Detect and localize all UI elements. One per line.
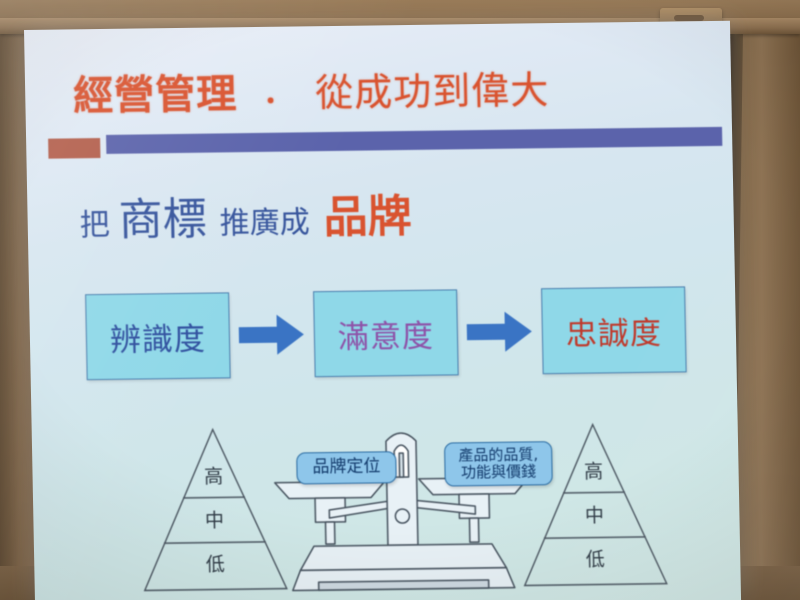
pyramid-level-label: 低 bbox=[520, 544, 671, 573]
callout-label: 品牌定位 bbox=[312, 458, 380, 478]
wall-right bbox=[736, 30, 800, 600]
flow-step-label: 忠誠度 bbox=[565, 307, 662, 353]
arrow-right-icon bbox=[466, 308, 533, 355]
subtitle-prefix: 把 bbox=[79, 200, 110, 244]
callout-product-quality: 產品的品質, 功能與價錢 bbox=[444, 441, 553, 486]
balance-scale-icon: 品牌定位 產品的品質, 功能與價錢 bbox=[265, 411, 539, 600]
pyramid-level-label: 中 bbox=[519, 500, 670, 529]
title-sub-text: 從成功到偉大 bbox=[315, 59, 550, 117]
flow-step-label: 辨識度 bbox=[109, 313, 206, 359]
projector-photo: 經營管理 ． 從成功到偉大 把 商標 推廣成 品牌 辨識度 bbox=[0, 0, 800, 600]
flow-step-label: 滿意度 bbox=[337, 310, 434, 356]
title-separator: ． bbox=[263, 67, 294, 111]
slide-title: 經營管理 ． 從成功到偉大 bbox=[73, 49, 694, 127]
divider-accent-block bbox=[48, 138, 100, 159]
subtitle-emphasis-brand: 品牌 bbox=[323, 180, 412, 245]
flow-step-satisfaction: 滿意度 bbox=[313, 289, 459, 377]
illustration-row: 高 中 低 bbox=[55, 403, 719, 600]
callout-brand-positioning: 品牌定位 bbox=[296, 451, 397, 484]
flow-step-loyalty: 忠誠度 bbox=[541, 286, 687, 374]
flow-step-recognition: 辨識度 bbox=[85, 292, 231, 380]
title-divider bbox=[26, 125, 733, 164]
callout-label-line2: 功能與價錢 bbox=[461, 463, 536, 481]
arrow-right-icon bbox=[238, 311, 305, 358]
divider-bar bbox=[106, 127, 722, 154]
slide-subtitle: 把 商標 推廣成 品牌 bbox=[79, 176, 700, 250]
subtitle-middle: 推廣成 bbox=[219, 197, 310, 242]
subtitle-emphasis-trademark: 商標 bbox=[118, 183, 207, 248]
title-main-text: 經營管理 bbox=[73, 61, 238, 121]
flow-diagram: 辨識度 滿意度 忠誠度 bbox=[85, 281, 687, 385]
presentation-slide: 經營管理 ． 從成功到偉大 把 商標 推廣成 品牌 辨識度 bbox=[24, 21, 741, 600]
